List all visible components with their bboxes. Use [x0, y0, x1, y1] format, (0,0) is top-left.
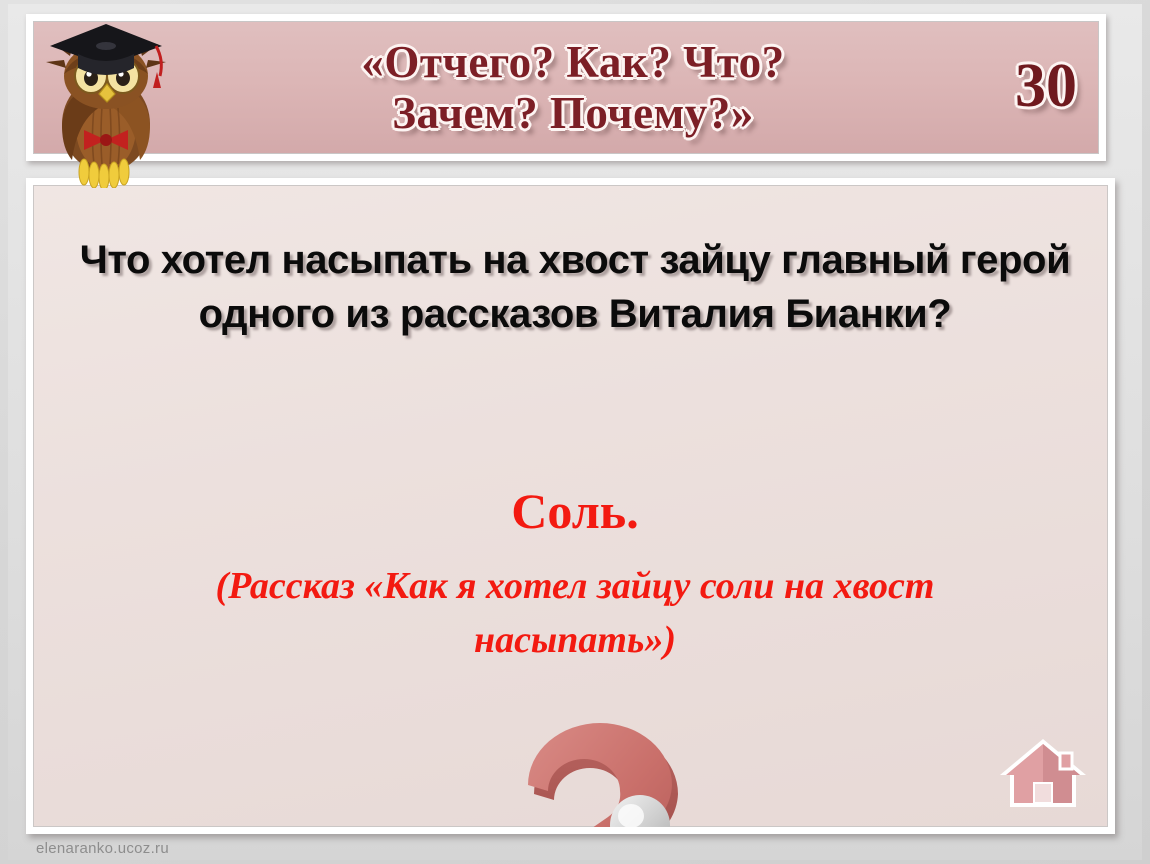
- content-panel: Что хотел насыпать на хвост зайцу главны…: [26, 178, 1115, 834]
- answer-block: Соль. (Рассказ «Как я хотел зайцу соли н…: [65, 485, 1085, 667]
- page-title: «Отчего? Как? Что? Зачем? Почему?»: [193, 37, 953, 139]
- slide-canvas: «Отчего? Как? Что? Зачем? Почему?» 30: [0, 0, 1150, 864]
- watermark: elenaranko.ucoz.ru: [36, 840, 169, 857]
- home-icon[interactable]: [996, 733, 1090, 813]
- question-text: Что хотел насыпать на хвост зайцу главны…: [65, 233, 1085, 341]
- owl-graduate-icon: [36, 12, 176, 188]
- answer-main: Соль.: [65, 485, 1085, 537]
- score-badge: 30: [1015, 55, 1077, 117]
- question-mark-thinker-icon: [488, 685, 758, 834]
- header-panel: «Отчего? Как? Что? Зачем? Почему?» 30: [26, 14, 1106, 161]
- answer-note: (Рассказ «Как я хотел зайцу соли на хвос…: [65, 559, 1085, 667]
